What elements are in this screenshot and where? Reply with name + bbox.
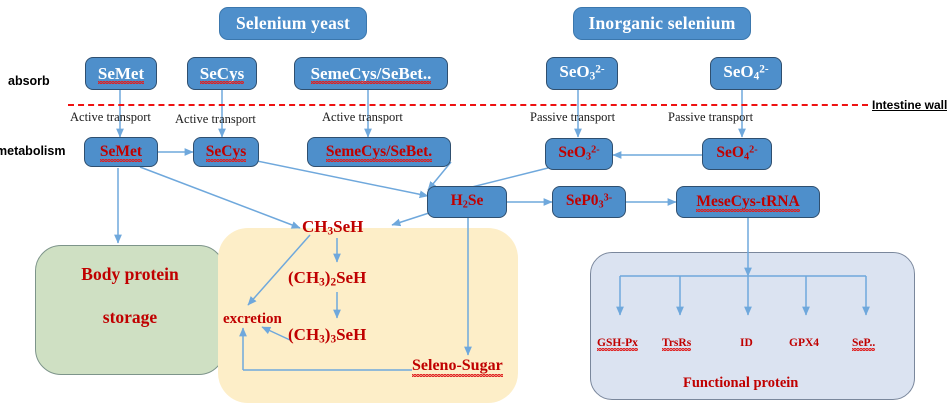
node-excretion: excretion [223,311,282,328]
protein-id: ID [740,337,753,349]
node-hydrogen-selenide: H2Se [427,186,507,218]
node-absorb-semet: SeMet [85,57,157,90]
node-dimethylselenol: (CH3)2SeH [288,268,366,288]
transport-label-secys: Active transport [175,112,256,127]
node-absorb-semecys-sebet: SemeCys/SeBet.. [294,57,448,90]
body-protein-line2: storage [60,307,200,328]
node-label: SemeCys/SeBet.. [311,65,432,83]
intestine-wall-label: Intestine wall [872,98,947,112]
body-protein-line1: Body protein [60,264,200,285]
protein-label: GSH-Px [597,337,638,349]
protein-label: SeP.. [852,337,875,349]
node-metab-semet: SeMet [84,137,158,167]
header-inorganic-selenium: Inorganic selenium [573,7,751,40]
functional-protein-title: Functional protein [683,375,798,392]
node-label: SeO42- [723,63,768,83]
node-label: SeCys [206,144,246,160]
arrow-semet-to-ch3seh [140,167,300,228]
node-seleno-sugar: Seleno-Sugar [412,357,503,375]
header-selenium-yeast: Selenium yeast [219,7,367,40]
node-label: MeseCys-tRNA [696,194,799,210]
node-trimethylselenol: (CH3)3SeH [288,325,366,345]
protein-sep: SeP.. [852,337,875,349]
node-label: SeP033- [566,193,612,211]
protein-label: TrsRs [662,337,691,349]
protein-gpx4: GPX4 [789,337,819,349]
node-label: SemeCys/SeBet. [326,144,432,160]
node-metab-selenite: SeO32- [545,138,613,170]
node-label: SeO42- [716,145,757,163]
node-label: SeCys [200,65,244,83]
node-absorb-secys: SeCys [187,57,257,90]
transport-label-selenate: Passive transport [668,110,753,125]
arrow-h2se-to-ch3seh [392,212,432,225]
node-label: SeMet [98,65,144,83]
transport-label-semecys: Active transport [322,110,403,125]
protein-label: GPX4 [789,337,819,349]
node-selenophosphate: SeP033- [552,186,626,218]
protein-gsh-px: GSH-Px [597,337,638,349]
node-label: SeO32- [559,63,604,83]
node-methylselenol: CH3SeH [302,217,363,237]
node-label: H2Se [451,193,484,211]
node-metab-semecys-sebet: SemeCys/SeBet. [307,137,451,167]
node-absorb-selenite: SeO32- [546,57,618,90]
transport-label-semet: Active transport [70,110,151,125]
protein-trsrs: TrsRs [662,337,691,349]
node-absorb-selenate: SeO42- [710,57,782,90]
node-metab-selenate: SeO42- [702,138,772,170]
protein-label: ID [740,337,753,349]
selenium-pathway-diagram: Intestine wall absorb metabolism Seleniu… [0,0,947,407]
transport-label-selenite: Passive transport [530,110,615,125]
side-label-metabolism: metabolism [0,144,65,158]
node-label: Seleno-Sugar [412,357,503,375]
side-label-absorb: absorb [8,74,50,88]
node-label: SeO32- [558,145,599,163]
intestine-wall-line [68,104,868,106]
node-metab-secys: SeCys [193,137,259,167]
node-label: SeMet [100,144,142,160]
node-mesecys-trna: MeseCys-tRNA [676,186,820,218]
